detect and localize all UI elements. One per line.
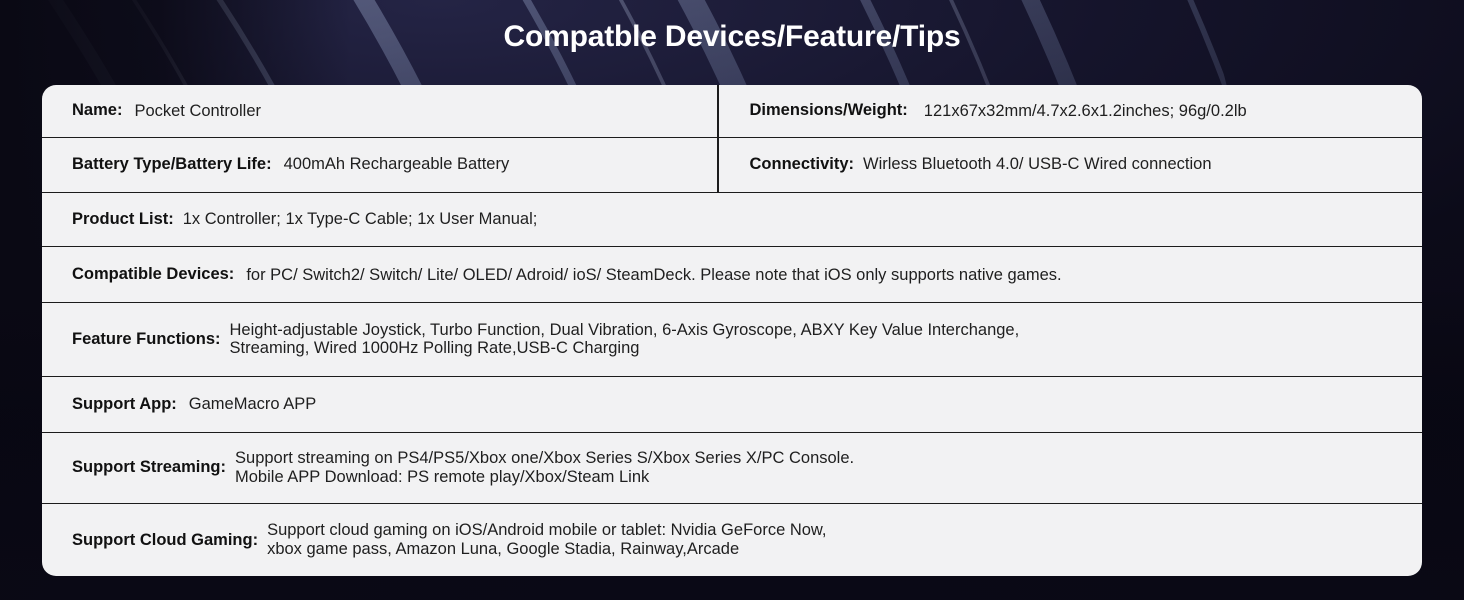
- table-cell-support-cloud-gaming: Support Cloud Gaming: Support cloud gami…: [42, 504, 1422, 576]
- table-row: Product List: 1x Controller; 1x Type-C C…: [42, 193, 1422, 248]
- table-cell-battery: Battery Type/Battery Life: 400mAh Rechar…: [42, 138, 717, 192]
- row-value: GameMacro APP: [189, 395, 316, 413]
- row-label: Support Streaming:: [72, 458, 226, 477]
- table-row: Support Cloud Gaming: Support cloud gami…: [42, 504, 1422, 576]
- row-value: 400mAh Rechargeable Battery: [284, 155, 510, 173]
- row-value: 1x Controller; 1x Type-C Cable; 1x User …: [183, 210, 538, 228]
- table-cell-support-app: Support App: GameMacro APP: [42, 377, 1422, 432]
- table-row: Support App: GameMacro APP: [42, 377, 1422, 433]
- table-cell-feature-functions: Feature Functions: Height-adjustable Joy…: [42, 303, 1422, 376]
- row-value: for PC/ Switch2/ Switch/ Lite/ OLED/ Adr…: [246, 266, 1061, 284]
- row-value: Wirless Bluetooth 4.0/ USB-C Wired conne…: [863, 155, 1211, 173]
- table-cell-support-streaming: Support Streaming: Support streaming on …: [42, 433, 1422, 504]
- table-row: Battery Type/Battery Life: 400mAh Rechar…: [42, 138, 1422, 193]
- row-label: Connectivity:: [750, 155, 855, 174]
- row-value: Pocket Controller: [134, 102, 261, 120]
- row-label: Support App:: [72, 395, 177, 414]
- spec-table: Name: Pocket Controller Dimensions/Weigh…: [42, 85, 1422, 576]
- table-row: Support Streaming: Support streaming on …: [42, 433, 1422, 505]
- table-row: Compatible Devices: for PC/ Switch2/ Swi…: [42, 247, 1422, 303]
- table-cell-compatible-devices: Compatible Devices: for PC/ Switch2/ Swi…: [42, 247, 1422, 302]
- table-row: Name: Pocket Controller Dimensions/Weigh…: [42, 85, 1422, 138]
- table-cell-name: Name: Pocket Controller: [42, 85, 717, 137]
- row-label: Support Cloud Gaming:: [72, 531, 258, 550]
- page-title: Compatble Devices/Feature/Tips: [0, 20, 1464, 54]
- table-row: Feature Functions: Height-adjustable Joy…: [42, 303, 1422, 377]
- row-value: Support cloud gaming on iOS/Android mobi…: [267, 521, 826, 559]
- row-label: Battery Type/Battery Life:: [72, 155, 272, 174]
- row-label: Name:: [72, 101, 122, 120]
- row-label: Product List:: [72, 210, 174, 229]
- row-label: Dimensions/Weight:: [750, 101, 908, 120]
- row-value: Support streaming on PS4/PS5/Xbox one/Xb…: [235, 449, 854, 487]
- table-cell-product-list: Product List: 1x Controller; 1x Type-C C…: [42, 193, 1422, 247]
- row-value: 121x67x32mm/4.7x2.6x1.2inches; 96g/0.2lb: [924, 102, 1247, 120]
- row-label: Feature Functions:: [72, 330, 221, 349]
- row-value: Height-adjustable Joystick, Turbo Functi…: [230, 321, 1020, 359]
- row-label: Compatible Devices:: [72, 265, 234, 284]
- table-cell-connectivity: Connectivity: Wirless Bluetooth 4.0/ USB…: [719, 138, 1423, 192]
- table-cell-dimensions-weight: Dimensions/Weight: 121x67x32mm/4.7x2.6x1…: [719, 85, 1423, 137]
